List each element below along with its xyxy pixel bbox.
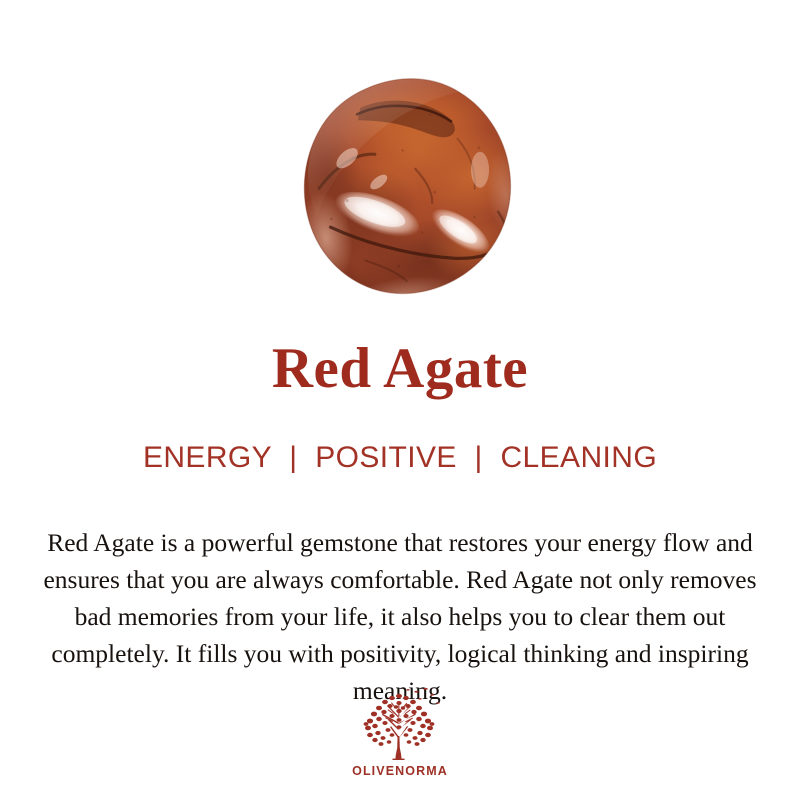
attribute-list: ENERGY | POSITIVE | CLEANING — [0, 441, 800, 474]
product-image-area — [0, 0, 800, 320]
attribute-cleaning: CLEANING — [500, 441, 657, 474]
page-title: Red Agate — [0, 340, 800, 397]
attribute-energy: ENERGY — [143, 441, 272, 474]
brand-name: OLIVENORMA — [352, 764, 448, 778]
brand-logo: OLIVENORMA — [0, 686, 800, 778]
attribute-separator: | — [280, 441, 306, 474]
product-info-card: Red Agate ENERGY | POSITIVE | CLEANING R… — [0, 0, 800, 800]
product-description: Red Agate is a powerful gemstone that re… — [22, 524, 778, 709]
attribute-positive: POSITIVE — [315, 441, 457, 474]
red-agate-stone-icon — [268, 58, 548, 320]
attribute-separator: | — [466, 441, 492, 474]
olive-tree-logo-icon — [354, 686, 446, 762]
